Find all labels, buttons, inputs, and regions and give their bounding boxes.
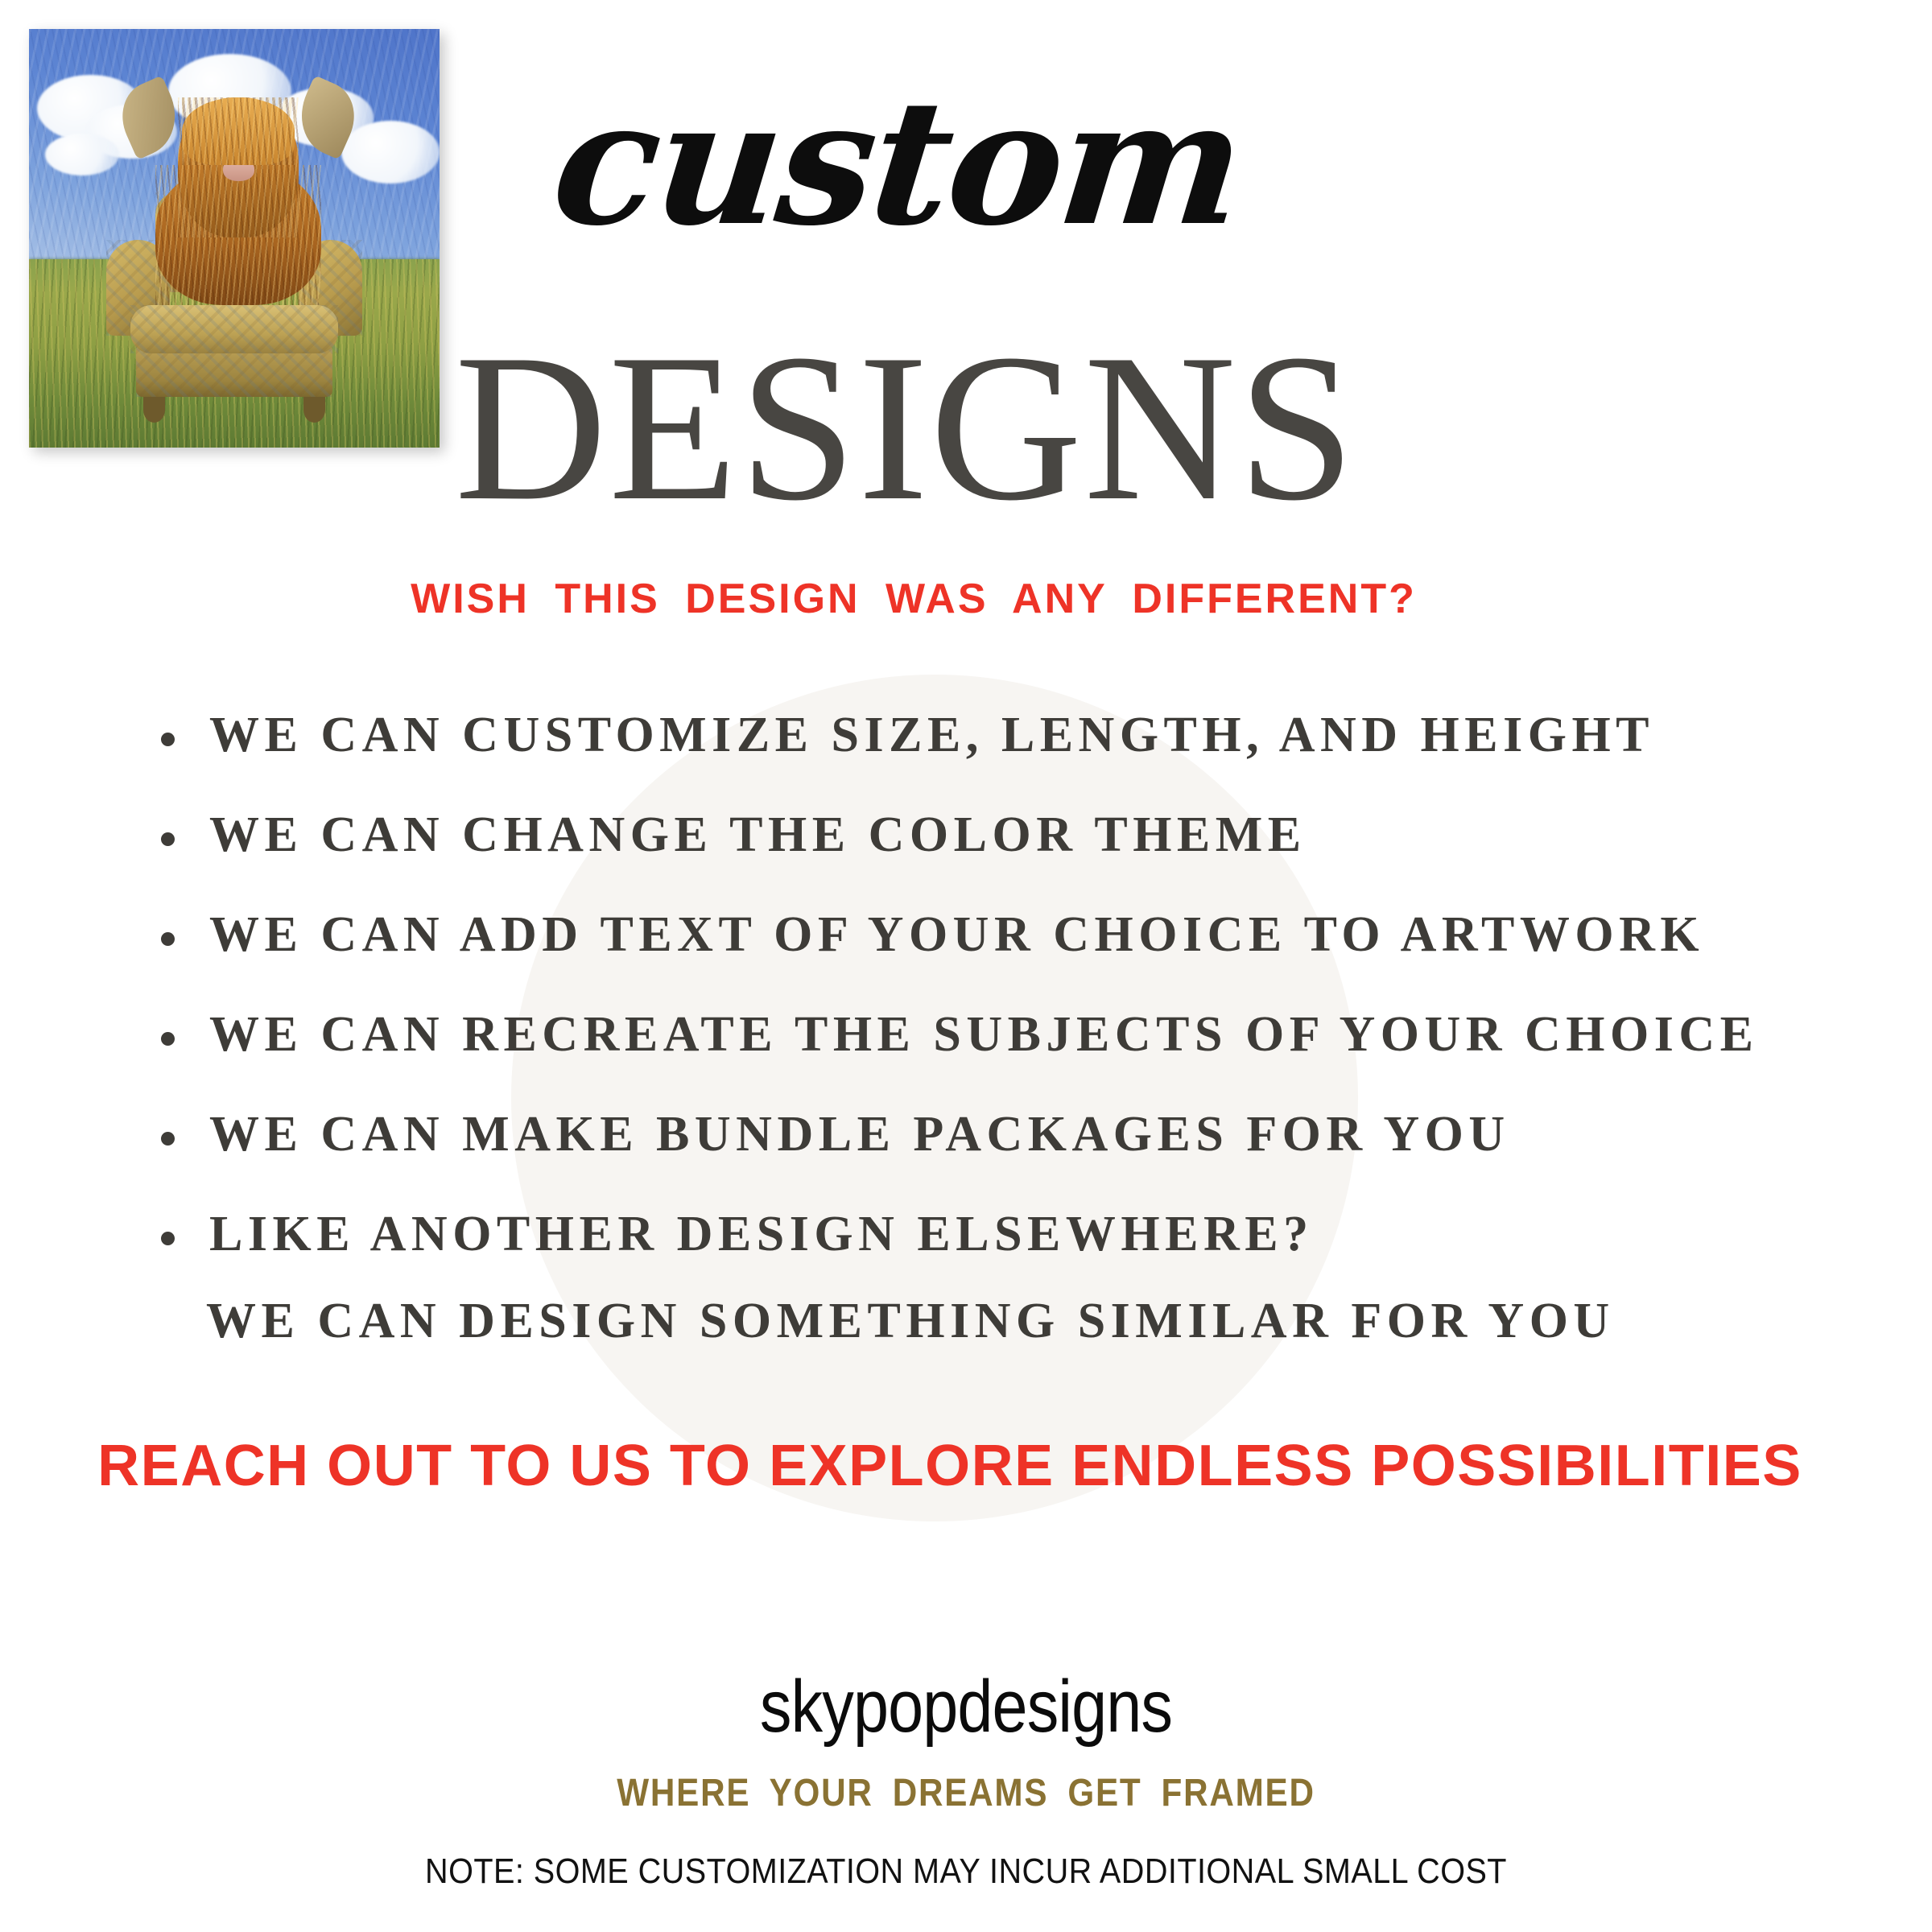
list-item: WE CAN CUSTOMIZE SIZE, LENGTH, AND HEIGH… <box>153 708 1811 762</box>
list-item-label: WE CAN MAKE BUNDLE PACKAGES FOR YOU <box>209 1107 1510 1162</box>
list-item-label: WE CAN CUSTOMIZE SIZE, LENGTH, AND HEIGH… <box>209 708 1654 762</box>
list-item: LIKE ANOTHER DESIGN ELSEWHERE? <box>153 1207 1811 1261</box>
list-item: WE CAN MAKE BUNDLE PACKAGES FOR YOU <box>153 1108 1811 1162</box>
list-item-label: LIKE ANOTHER DESIGN ELSEWHERE? <box>209 1207 1314 1261</box>
brand-tagline: WHERE YOUR DREAMS GET FRAMED <box>116 1771 1816 1815</box>
bullet-dot-icon <box>161 1232 175 1245</box>
list-item-label: WE CAN RECREATE THE SUBJECTS OF YOUR CHO… <box>209 1007 1759 1062</box>
brand-logo-text: skypopdesigns <box>135 1665 1797 1749</box>
custom-designs-poster: custom DESIGNS WISH THIS DESIGN WAS ANY … <box>0 0 1932 1932</box>
feature-list: WE CAN CUSTOMIZE SIZE, LENGTH, AND HEIGH… <box>153 708 1811 1307</box>
list-item-label: WE CAN CHANGE THE COLOR THEME <box>209 807 1307 862</box>
list-item: WE CAN CHANGE THE COLOR THEME <box>153 808 1811 862</box>
list-item-label: WE CAN ADD TEXT OF YOUR CHOICE TO ARTWOR… <box>209 907 1704 962</box>
headline-designs: DESIGNS <box>0 322 1932 533</box>
call-to-action: REACH OUT TO US TO EXPLORE ENDLESS POSSI… <box>0 1433 1932 1499</box>
footnote-note: NOTE: SOME CUSTOMIZATION MAY INCUR ADDIT… <box>97 1851 1835 1892</box>
bullet-dot-icon <box>161 1032 175 1046</box>
bullet-dot-icon <box>161 1132 175 1146</box>
bullet-dot-icon <box>161 832 175 846</box>
bullet-dot-icon <box>161 733 175 746</box>
subtitle-question: WISH THIS DESIGN WAS ANY DIFFERENT? <box>0 575 1932 623</box>
bullet-dot-icon <box>161 932 175 946</box>
list-item: WE CAN RECREATE THE SUBJECTS OF YOUR CHO… <box>153 1008 1811 1062</box>
list-item-continuation: WE CAN DESIGN SOMETHING SIMILAR FOR YOU <box>206 1294 1615 1348</box>
list-item: WE CAN ADD TEXT OF YOUR CHOICE TO ARTWOR… <box>153 908 1811 962</box>
headline-script-custom: custom <box>0 77 1932 250</box>
